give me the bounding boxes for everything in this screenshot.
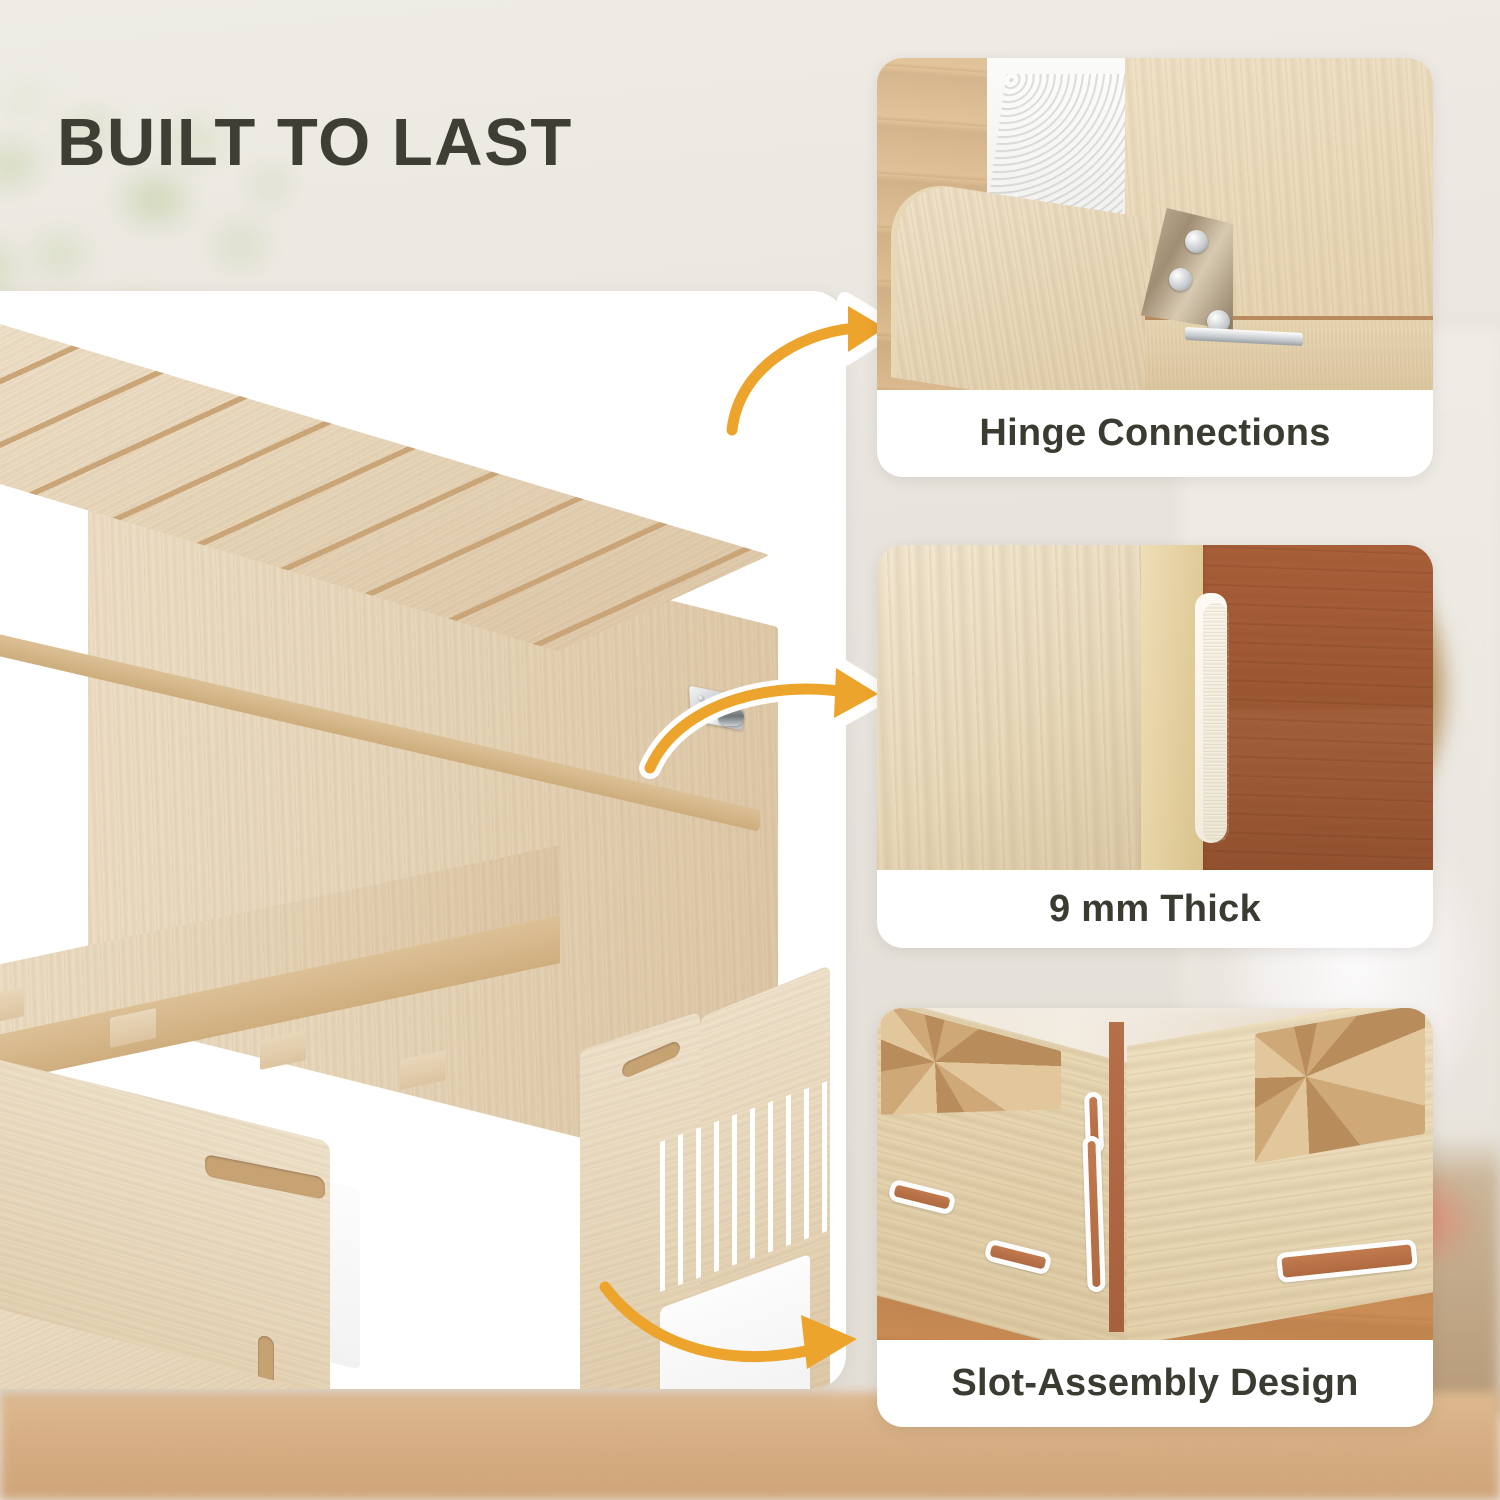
callout-card-panel-thickness[interactable]: 9 mm Thick (877, 545, 1433, 948)
bracket-screw (1169, 268, 1192, 291)
panel-thickness-photo (877, 545, 1433, 870)
photo-walnut-floor (1193, 545, 1433, 870)
callout-card-slot-assembly[interactable]: Slot-Assembly Design (877, 1008, 1433, 1427)
callout-label-slot-assembly: Slot-Assembly Design (877, 1340, 1433, 1427)
photo-box-side-right (1127, 1008, 1433, 1340)
particle-board-core (1255, 1008, 1425, 1164)
callout-card-hinge-connections[interactable]: Hinge Connections (877, 58, 1433, 477)
photo-board-edge-banding (1109, 1022, 1124, 1332)
page-title: BUILT TO LAST (57, 104, 573, 181)
callout-label-panel-thickness: 9 mm Thick (877, 870, 1433, 948)
bracket-screw (1185, 230, 1208, 253)
hinge-connection-photo (877, 58, 1433, 390)
photo-oak-panel-face (877, 545, 1145, 870)
callout-label-hinge-connections: Hinge Connections (877, 390, 1433, 477)
end-panel-slot (621, 1039, 680, 1079)
photo-inner-board-grain (1203, 603, 1229, 843)
divider-slot (205, 1154, 326, 1200)
photo-panel-thickness-edge (1141, 545, 1203, 870)
arrow-to-slots (595, 1265, 895, 1415)
arrow-to-thickness (620, 650, 910, 810)
slot-assembly-photo (877, 1008, 1433, 1340)
